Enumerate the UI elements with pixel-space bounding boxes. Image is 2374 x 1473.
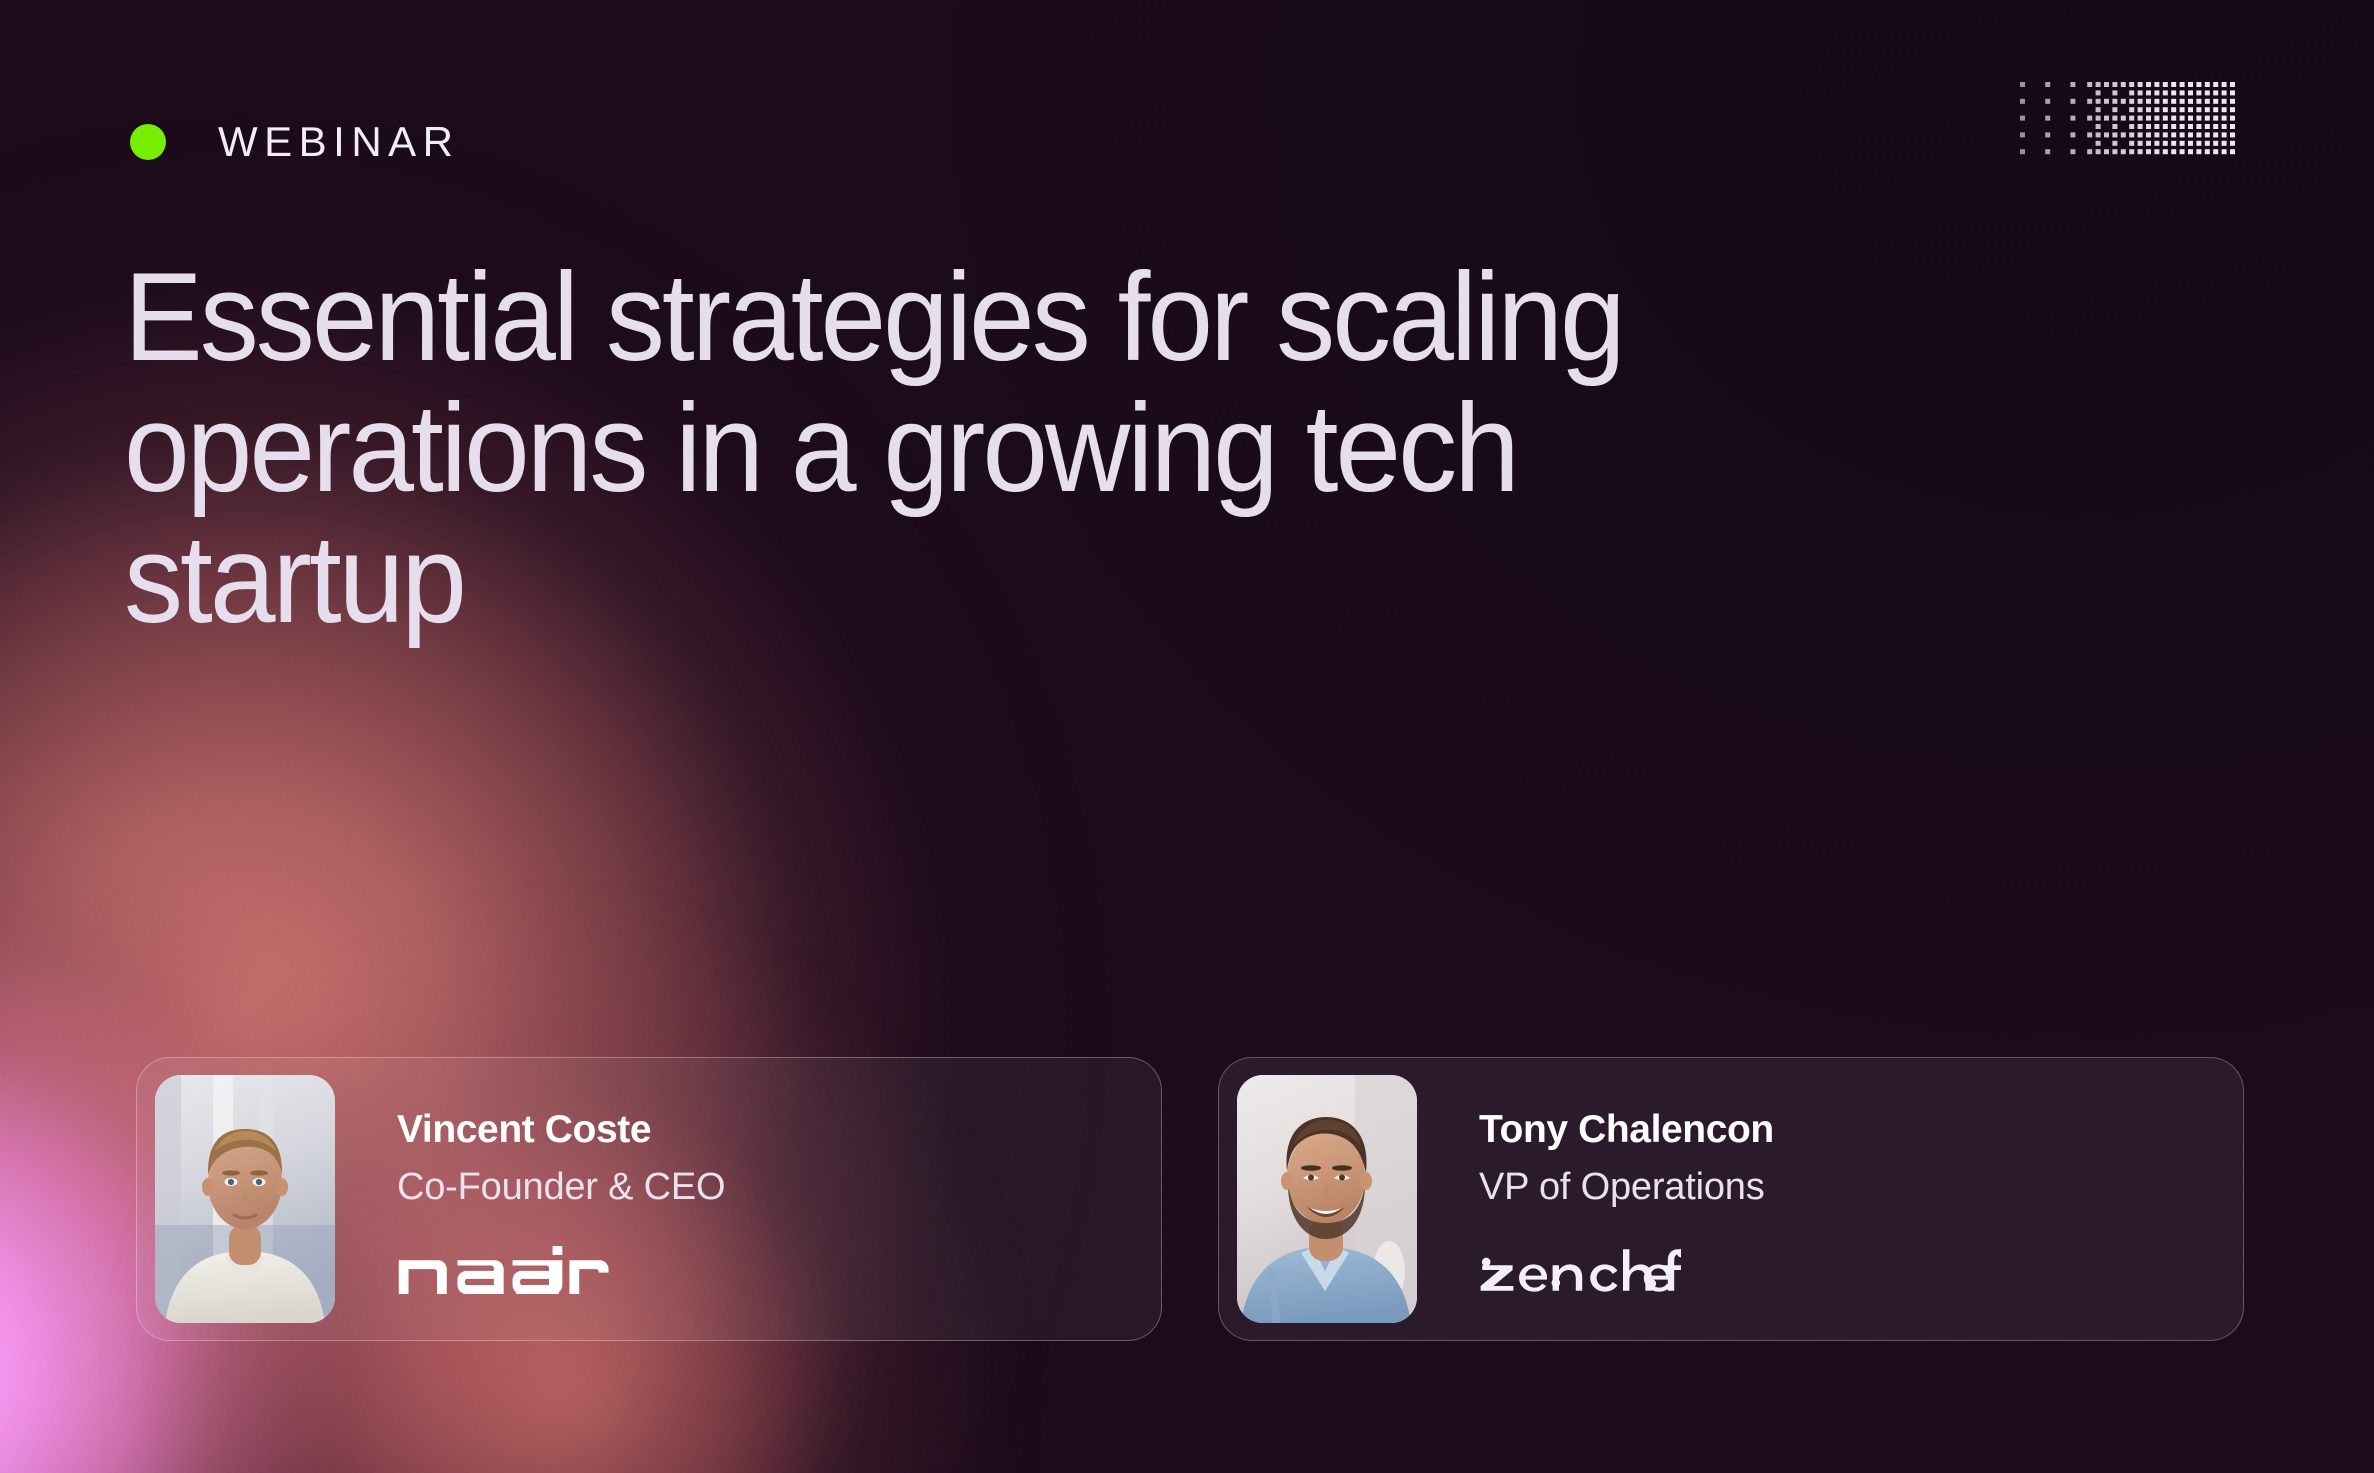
speaker-role: VP of Operations	[1479, 1168, 1774, 1206]
speaker-card[interactable]: Vincent Coste Co-Founder & CEO	[136, 1057, 1162, 1341]
avatar	[1237, 1075, 1417, 1323]
speaker-role: Co-Founder & CEO	[397, 1168, 725, 1206]
page-title: Essential strategies for scaling operati…	[124, 268, 1844, 630]
speaker-card[interactable]: Tony Chalencon VP of Operations	[1218, 1057, 2244, 1341]
company-logo-zenchef	[1479, 1246, 1774, 1294]
avatar	[155, 1075, 335, 1323]
eyebrow: WEBINAR	[130, 118, 460, 166]
speaker-name: Vincent Coste	[397, 1110, 725, 1149]
dither-gradient-icon	[2020, 82, 2238, 160]
company-logo-najar	[397, 1246, 725, 1294]
eyebrow-label: WEBINAR	[218, 118, 460, 166]
speaker-name: Tony Chalencon	[1479, 1110, 1774, 1149]
status-dot-icon	[130, 124, 166, 160]
speaker-info: Tony Chalencon VP of Operations	[1479, 1075, 1774, 1323]
webinar-promo-canvas: WEBINAR Essential strategies for scaling…	[0, 0, 2374, 1473]
speaker-card-list: Vincent Coste Co-Founder & CEO	[136, 1057, 2244, 1341]
speaker-info: Vincent Coste Co-Founder & CEO	[397, 1075, 725, 1323]
page-title-line-3: startup	[124, 530, 1749, 630]
page-title-line-2: operations in a growing tech	[124, 399, 1749, 499]
page-title-line-1: Essential strategies for scaling	[124, 268, 1749, 368]
